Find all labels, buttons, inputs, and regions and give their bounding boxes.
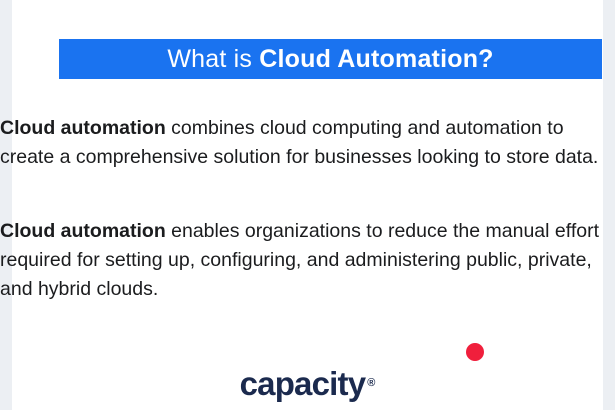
paragraph-2: Cloud automation enables organizations t… <box>0 217 615 304</box>
title-prefix: What is <box>167 45 259 73</box>
title-emphasis: Cloud Automation? <box>259 45 493 73</box>
accent-dot-icon <box>466 343 484 361</box>
registered-trademark-icon: ® <box>367 377 375 389</box>
slide-content: What is Cloud Automation? <box>12 0 615 410</box>
logo-wordmark: capacity <box>240 365 366 403</box>
paragraph-1-lead: Cloud automation <box>0 117 166 139</box>
brand-logo: capacity ® <box>0 365 615 403</box>
paragraph-2-lead: Cloud automation <box>0 220 166 242</box>
slide-canvas: What is Cloud Automation? Cloud automati… <box>0 0 615 410</box>
title-banner: What is Cloud Automation? <box>59 39 602 79</box>
page-title: What is Cloud Automation? <box>167 45 493 74</box>
left-rail <box>0 0 12 410</box>
paragraph-1: Cloud automation combines cloud computin… <box>0 114 615 172</box>
